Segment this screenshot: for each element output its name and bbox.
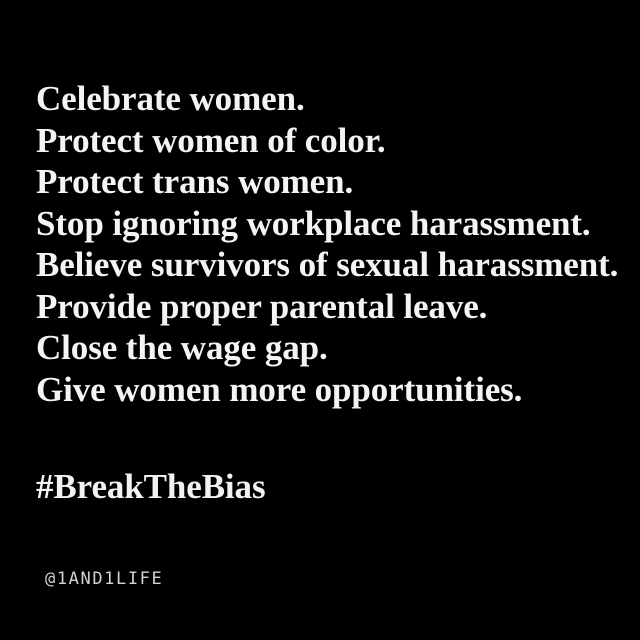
handle-block: @1AND1LIFE xyxy=(45,569,163,589)
statement-line: Close the wage gap. xyxy=(36,327,636,369)
statement-line: Give women more opportunities. xyxy=(36,369,636,411)
statement-line: Protect trans women. xyxy=(36,161,636,203)
statement-line: Celebrate women. xyxy=(36,78,636,120)
hashtag-block: #BreakTheBias xyxy=(36,466,265,508)
statement-line: Believe survivors of sexual harassment. xyxy=(36,244,636,286)
statement-line: Provide proper parental leave. xyxy=(36,286,636,328)
social-post-graphic: Celebrate women. Protect women of color.… xyxy=(0,0,640,640)
campaign-hashtag: #BreakTheBias xyxy=(36,466,265,508)
account-handle: @1AND1LIFE xyxy=(45,569,163,589)
statement-line: Protect women of color. xyxy=(36,120,636,162)
statement-list: Celebrate women. Protect women of color.… xyxy=(36,78,636,410)
statement-line: Stop ignoring workplace harassment. xyxy=(36,203,636,245)
